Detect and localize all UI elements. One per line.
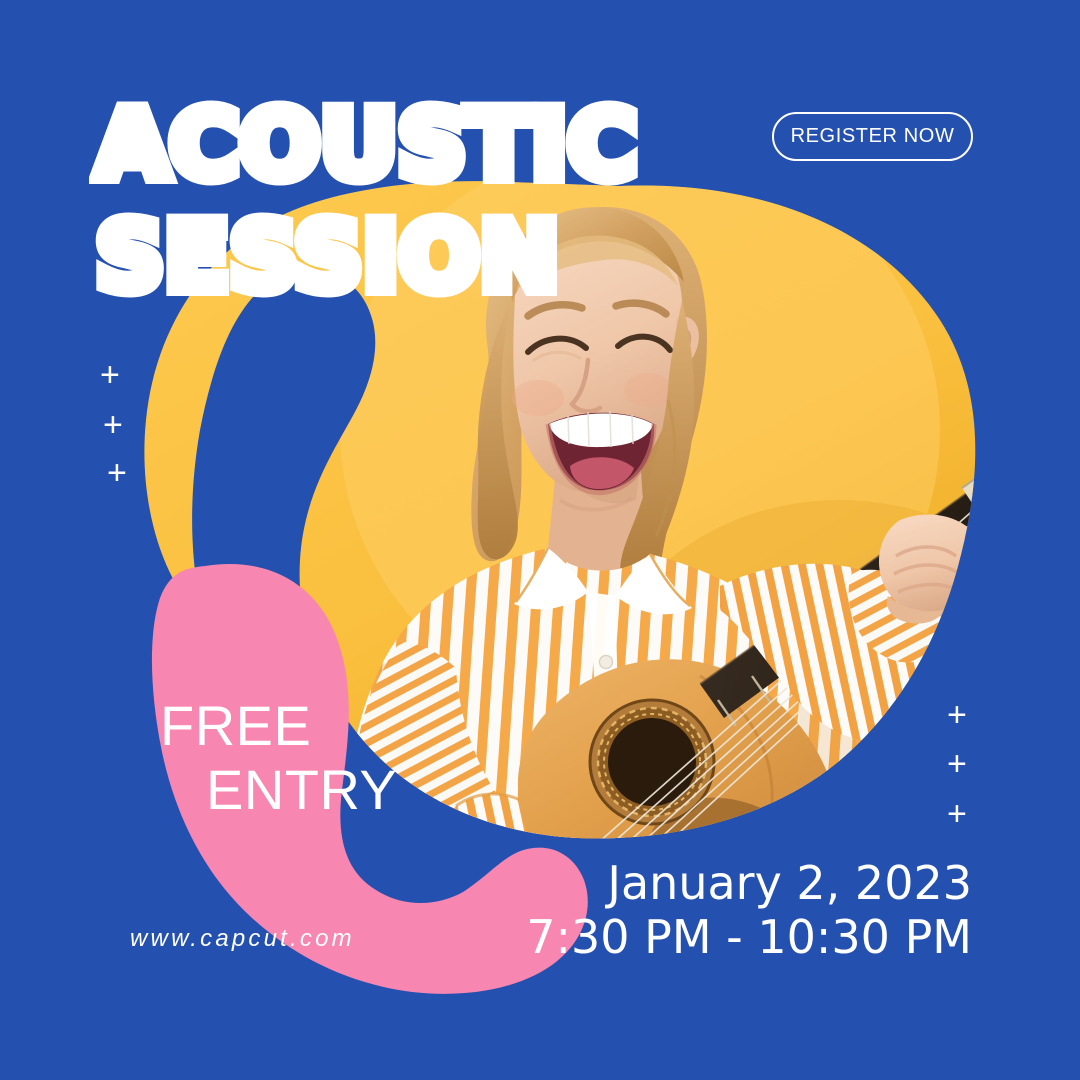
plus-icon: + [100,358,120,392]
artwork-layer [0,0,1080,1080]
plus-icon: + [947,698,967,732]
plus-icon: + [103,408,123,442]
register-now-button[interactable]: REGISTER NOW [772,112,973,161]
plus-icon: + [107,456,127,490]
plus-icon: + [947,747,967,781]
plus-icon: + [947,797,967,831]
poster-canvas: ACOUSTIC SESSION REGISTER NOW + + + + + … [0,0,1080,1080]
